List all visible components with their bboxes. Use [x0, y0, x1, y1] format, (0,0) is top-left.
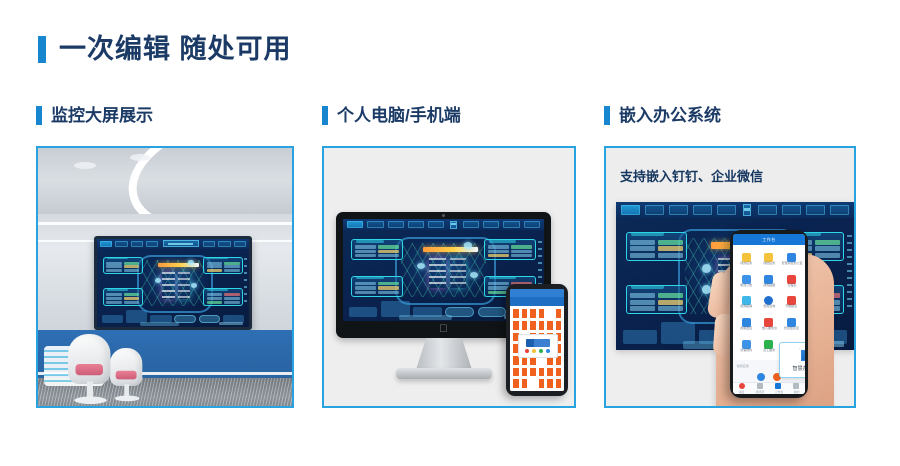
dashboard-title-plate — [450, 221, 457, 229]
dashboard-nav-tab[interactable] — [503, 221, 519, 228]
section-heading-embedded-office: 嵌入办公系统 — [604, 106, 721, 125]
dashboard-nav-tab[interactable] — [758, 205, 777, 215]
app-tile[interactable]: 待办任务 — [735, 248, 758, 270]
dashboard-side-legend — [244, 258, 247, 304]
app-tile[interactable]: 嵌入服务台 — [758, 314, 781, 336]
notification-icon — [764, 275, 773, 284]
app-tile-label: 待办任务 — [740, 263, 752, 266]
app-tile-label: 新闻公告 — [740, 284, 752, 287]
monitor-stand-base — [396, 368, 492, 379]
tab-label: 我的 — [794, 390, 800, 394]
app-tile[interactable]: 员工服务 — [758, 336, 781, 358]
ceiling-light — [74, 162, 96, 169]
phone-status-bar — [510, 289, 564, 297]
chair — [110, 348, 142, 386]
section-heading-label: 个人电脑/手机端 — [337, 107, 461, 124]
tab-workbench[interactable]: 工作台 — [775, 383, 783, 394]
brand-logo-icon — [526, 339, 549, 347]
page-title-text: 一次编辑 随处可用 — [59, 36, 292, 63]
legend-dots — [525, 349, 550, 353]
dashboard-nav-tab[interactable] — [463, 221, 479, 228]
dashboard-data-card — [103, 257, 143, 275]
chair — [68, 334, 111, 384]
monitor-stand-neck — [416, 338, 472, 370]
dashboard-nav-tab[interactable] — [524, 221, 540, 228]
section-marker-bar — [322, 106, 328, 125]
dashboard-footer-bar — [399, 315, 451, 320]
tab-label: 消息 — [739, 390, 745, 394]
mobile-phone-device — [506, 284, 568, 396]
workbench-title: 工作台 — [762, 237, 776, 243]
section-heading-label: 监控大屏展示 — [51, 107, 153, 124]
workbench-title-bar: 工作台 — [733, 234, 805, 245]
calendar-icon — [787, 275, 796, 284]
app-tile-label: 节能报表 — [786, 306, 798, 309]
app-tile-label: 智慧综合办公室 — [781, 263, 802, 266]
section-heading-pc-mobile: 个人电脑/手机端 — [322, 106, 461, 125]
app-tile-label: 视频监控 — [740, 328, 752, 331]
device-scene:  — [324, 148, 574, 406]
dashboard-nav-tab[interactable] — [806, 205, 825, 215]
dashboard-marker — [155, 278, 161, 283]
dashboard-nav-tab[interactable] — [717, 205, 736, 215]
dashboard-nav-tab[interactable] — [131, 241, 143, 247]
dashboard-nav-tab[interactable] — [669, 205, 688, 215]
tab-contacts[interactable]: 通讯录 — [756, 383, 764, 394]
callout-label: 智慧办公室 — [792, 365, 805, 372]
app-tile[interactable]: 访客预约 — [735, 336, 758, 358]
panel-caption: 支持嵌入钉钉、企业微信 — [606, 148, 854, 202]
section-heading-monitor-wall: 监控大屏展示 — [36, 106, 153, 125]
dashboard-marker — [470, 272, 478, 278]
dashboard-nav-tab[interactable] — [830, 205, 849, 215]
news-icon — [742, 275, 751, 284]
app-tile[interactable]: 节能报表 — [780, 292, 803, 314]
dashboard-nav — [616, 202, 854, 218]
phone-tab-bar: 消息 通讯录 工作台 我的 — [733, 382, 805, 394]
dashboard-nav-tab[interactable] — [234, 241, 246, 247]
dashboard-rack-left — [162, 272, 174, 298]
quick-icon[interactable] — [757, 373, 765, 381]
dashboard-rack-left — [429, 258, 445, 289]
dashboard-nav-tab[interactable] — [218, 241, 230, 247]
app-tile-label: 智慧会议室 — [784, 328, 799, 331]
dashboard-nav-tab[interactable] — [115, 241, 127, 247]
dashboard-nav-tab[interactable] — [483, 221, 499, 228]
dashboard-data-card — [351, 239, 403, 259]
app-tile[interactable]: 智慧会议室 — [780, 314, 803, 336]
dashboard-nav-tab[interactable] — [408, 221, 424, 228]
phone-app-title-bar — [510, 297, 564, 306]
tab-label: 工作台 — [774, 390, 783, 394]
ceiling — [38, 148, 292, 218]
dashboard-rack-right — [178, 272, 190, 298]
dashboard-nav — [97, 239, 249, 249]
wall-display — [94, 236, 252, 330]
section-label-text: 常用应用 — [736, 364, 748, 368]
dashboard-nav-tab[interactable] — [203, 241, 215, 247]
dashboard-nav-tab[interactable] — [428, 221, 444, 228]
dashboard-data-card — [103, 288, 143, 306]
app-tile-label: 嵌入服务台 — [762, 328, 777, 331]
app-tile[interactable]: 视频监控 — [735, 314, 758, 336]
approval-icon — [764, 253, 773, 262]
app-tile-label: 费用查询 — [763, 306, 775, 309]
page-title: 一次编辑 随处可用 — [38, 36, 292, 63]
dashboard-footer-bar — [140, 322, 180, 326]
embedded-office-scene: 支持嵌入钉钉、企业微信 — [606, 148, 854, 406]
slide-root: 一次编辑 随处可用 监控大屏展示 个人电脑/手机端 嵌入办公系统 — [0, 0, 900, 466]
mobile-phone-device: 工作台 待办任务 待批任务 智慧综合办公室 — [730, 230, 808, 398]
app-tile-label: 日程表 — [787, 284, 796, 287]
dashboard-rack-right — [450, 258, 466, 289]
dashboard-nav-tab[interactable] — [347, 221, 363, 228]
app-tile-label: 费用报销 — [740, 306, 752, 309]
app-tile[interactable]: 新闻公告 — [735, 270, 758, 292]
panel-caption-text: 支持嵌入钉钉、企业微信 — [620, 166, 763, 185]
wall-trim — [38, 222, 292, 225]
title-marker-bar — [38, 36, 46, 63]
dashboard-data-card — [626, 285, 688, 315]
app-tile[interactable]: 智慧综合办公室 — [780, 248, 803, 270]
dashboard-data-card — [203, 288, 243, 306]
app-tile[interactable]: 待批任务 — [758, 248, 781, 270]
todo-icon — [742, 253, 751, 262]
room-scene — [38, 148, 292, 406]
dashboard-nav — [343, 219, 544, 230]
office-icon — [787, 253, 796, 262]
app-tile[interactable]: 通知提醒 — [758, 270, 781, 292]
image-panel-monitor-wall — [36, 146, 294, 408]
document-icon — [799, 348, 806, 363]
dashboard-data-card — [626, 232, 688, 262]
dashboard-data-card — [203, 257, 243, 275]
ceiling-light — [130, 154, 150, 161]
dashboard-nav-tab[interactable] — [693, 205, 712, 215]
highlight-callout-card[interactable]: 智慧办公室 — [779, 342, 805, 378]
app-tile[interactable]: 费用查询 — [758, 292, 781, 314]
dashboard-side-legend — [847, 235, 852, 312]
dashboard-screen — [97, 239, 249, 327]
dashboard-marker — [464, 242, 472, 248]
phone-screen — [510, 289, 564, 391]
app-tile-label: 访客预约 — [740, 350, 752, 353]
image-panel-embedded-office: 支持嵌入钉钉、企业微信 — [604, 146, 856, 408]
section-marker-bar — [604, 106, 610, 125]
app-tile-label: 员工服务 — [763, 350, 775, 353]
dashboard-marker — [702, 264, 712, 273]
tab-label: 通讯录 — [755, 390, 764, 394]
dashboard-data-card — [351, 276, 403, 296]
app-tile[interactable]: 费用报销 — [735, 292, 758, 314]
dashboard-nav-tab[interactable] — [782, 205, 801, 215]
phone-screen: 工作台 待办任务 待批任务 智慧综合办公室 — [733, 234, 805, 394]
dashboard-footer-meta — [219, 322, 243, 326]
section-marker-bar — [36, 106, 42, 125]
apple-logo-icon:  — [439, 324, 449, 335]
section-heading-label: 嵌入办公系统 — [619, 107, 721, 124]
dashboard-title-plate — [163, 240, 199, 247]
app-tile-label: 待批任务 — [763, 263, 775, 266]
app-tile[interactable]: 日程表 — [780, 270, 803, 292]
dashboard-data-card — [484, 239, 536, 259]
dashboard-nav-tab[interactable] — [645, 205, 664, 215]
tab-profile[interactable]: 我的 — [793, 383, 799, 394]
dashboard-nav-tab[interactable] — [146, 241, 158, 247]
dashboard-nav-tab[interactable] — [100, 241, 112, 247]
webcam-icon — [442, 214, 445, 217]
app-tile-label: 通知提醒 — [763, 284, 775, 287]
dashboard-title-plate — [743, 204, 751, 215]
floorplan-info-card — [518, 334, 559, 358]
dashboard-nav-tab[interactable] — [367, 221, 383, 228]
image-panel-pc-mobile:  — [322, 146, 576, 408]
dashboard-nav-tab[interactable] — [621, 205, 640, 215]
tab-messages[interactable]: 消息 — [739, 383, 745, 394]
dashboard-nav-tab[interactable] — [388, 221, 404, 228]
